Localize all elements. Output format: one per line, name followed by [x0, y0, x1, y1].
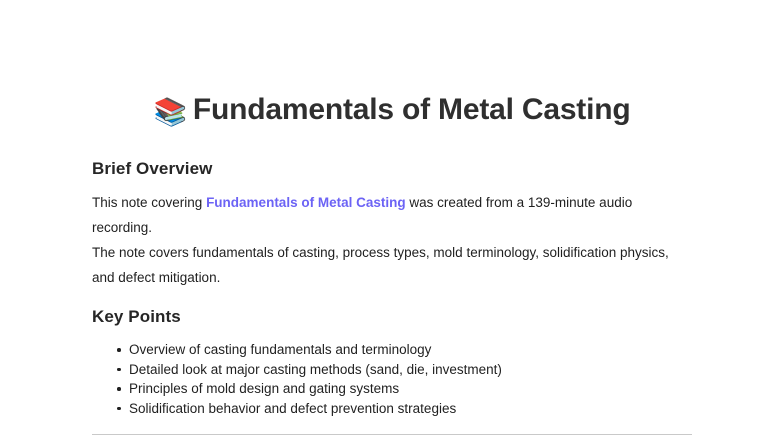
list-item: Detailed look at major casting methods (… [129, 360, 729, 380]
books-emoji: 📚 [153, 97, 186, 127]
section-heading-key-points: Key Points [92, 306, 181, 328]
list-item: Overview of casting fundamentals and ter… [129, 340, 729, 360]
overview-paragraph-2: The note covers fundamentals of casting,… [92, 240, 694, 290]
page-title: 📚Fundamentals of Metal Casting [92, 90, 692, 130]
overview-paragraphs: This note covering Fundamentals of Metal… [92, 190, 694, 290]
section-heading-brief-overview: Brief Overview [92, 158, 212, 180]
list-item: Solidification behavior and defect preve… [129, 399, 729, 419]
key-points-list: Overview of casting fundamentals and ter… [92, 340, 729, 418]
overview-paragraph-1-lead: This note covering [92, 195, 206, 210]
document-page: 📚Fundamentals of Metal Casting Brief Ove… [0, 0, 784, 441]
page-title-text: Fundamentals of Metal Casting [193, 93, 631, 126]
section-divider [92, 434, 692, 435]
note-topic-link[interactable]: Fundamentals of Metal Casting [206, 195, 406, 210]
overview-paragraph-1: This note covering Fundamentals of Metal… [92, 190, 694, 240]
list-item: Principles of mold design and gating sys… [129, 379, 729, 399]
